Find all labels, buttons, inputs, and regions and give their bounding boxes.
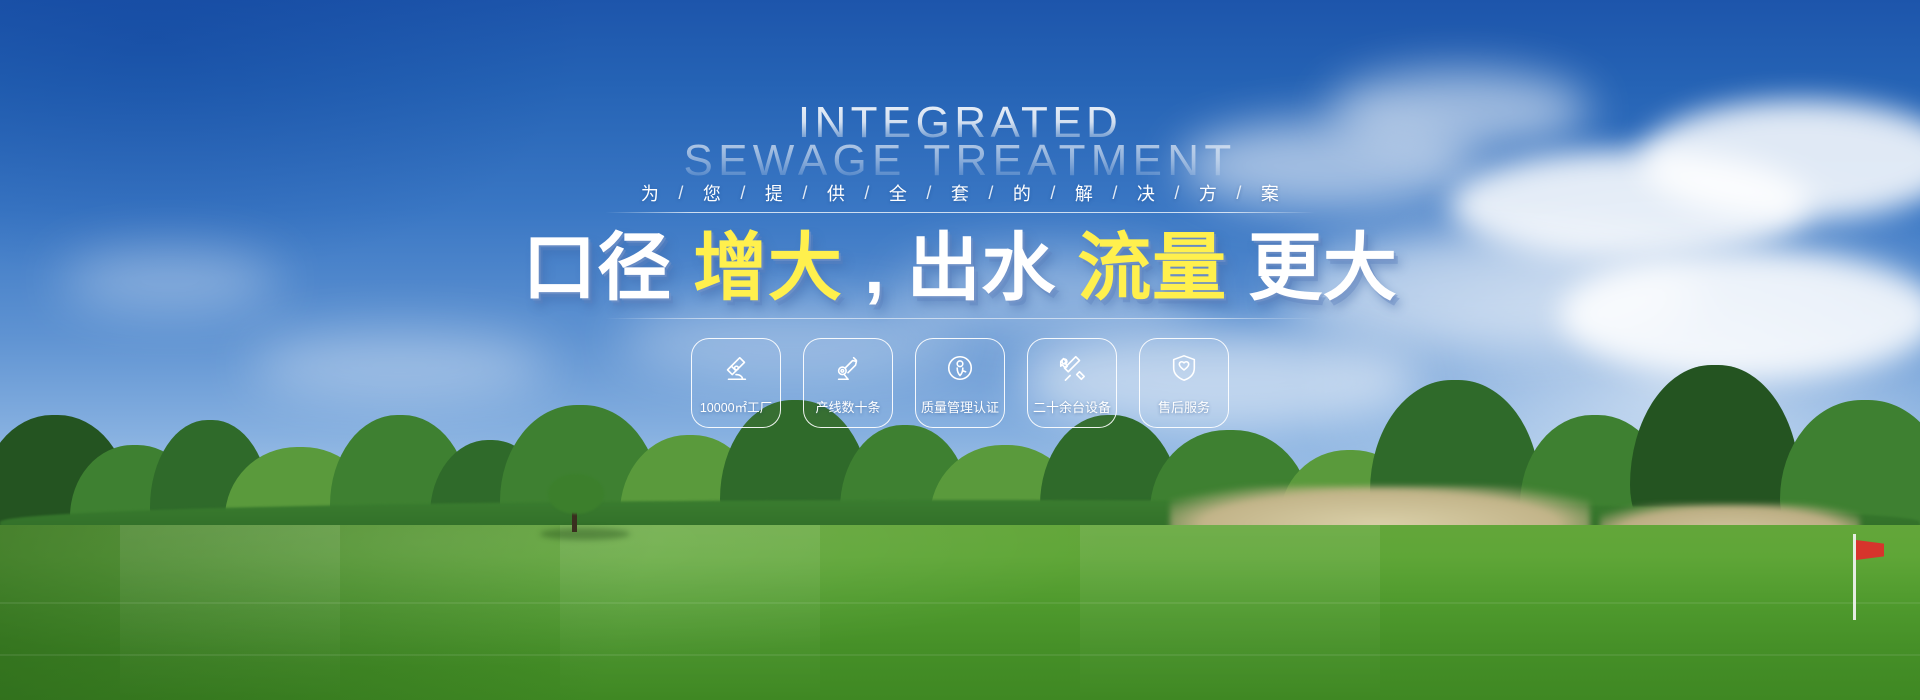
feature-badge-label: 产线数十条 <box>815 397 880 416</box>
tagline-separator: / <box>852 183 882 204</box>
feature-badge-label: 10000㎡工厂 <box>700 397 772 416</box>
headline-part: , <box>864 226 885 309</box>
tagline-char: 提 <box>758 180 790 206</box>
feature-badge-label: 质量管理认证 <box>921 397 999 416</box>
hero-banner: INTEGRATED SEWAGE TREATMENT 为 / 您 / 提 / … <box>0 0 1920 700</box>
tagline-char: 套 <box>944 180 976 206</box>
tagline-separator: / <box>1038 183 1068 204</box>
headline-part: 口径 <box>522 226 671 309</box>
headline-divider <box>605 318 1315 319</box>
feature-badge-equipment[interactable]: 二十余台设备 <box>1027 338 1117 428</box>
tagline-separator: / <box>1100 183 1130 204</box>
feature-badge-list: 10000㎡工厂 产线数十条 <box>691 338 1229 428</box>
tagline-divider <box>605 212 1315 213</box>
feature-badge-label: 售后服务 <box>1158 397 1210 416</box>
quality-certificate-icon <box>945 353 975 383</box>
feature-badge-label: 二十余台设备 <box>1033 397 1111 416</box>
tagline-separator: / <box>1162 183 1192 204</box>
wrench-gear-icon <box>1057 353 1087 383</box>
feature-badge-after-sales[interactable]: 售后服务 <box>1139 338 1229 428</box>
headline-part: 更大 <box>1248 226 1397 309</box>
tagline-char: 全 <box>882 180 914 206</box>
page-title: 口径 增大 , 出水 流量 更大 <box>522 228 1397 308</box>
tagline-char: 案 <box>1254 180 1286 206</box>
tagline-char: 决 <box>1130 180 1162 206</box>
tagline-char: 您 <box>696 180 728 206</box>
tagline-separator: / <box>666 183 696 204</box>
feature-badge-production-lines[interactable]: 产线数十条 <box>803 338 893 428</box>
headline-part: 流量 <box>1077 226 1226 309</box>
headline-part: 出水 <box>907 226 1056 309</box>
banner-content: INTEGRATED SEWAGE TREATMENT 为 / 您 / 提 / … <box>0 0 1920 700</box>
microscope-icon <box>721 353 751 383</box>
production-line-icon <box>833 353 863 383</box>
ghost-headline-line1: INTEGRATED <box>470 98 1450 148</box>
tagline-char: 为 <box>634 180 666 206</box>
feature-badge-quality-cert[interactable]: 质量管理认证 <box>915 338 1005 428</box>
tagline-separator: / <box>790 183 820 204</box>
tagline: 为 / 您 / 提 / 供 / 全 / 套 / 的 / 解 / 决 / 方 / … <box>634 180 1286 206</box>
tagline-char: 供 <box>820 180 852 206</box>
tagline-char: 方 <box>1192 180 1224 206</box>
tagline-separator: / <box>914 183 944 204</box>
feature-badge-factory[interactable]: 10000㎡工厂 <box>691 338 781 428</box>
tagline-separator: / <box>1224 183 1254 204</box>
headline-part: 增大 <box>693 226 842 309</box>
tagline-char: 的 <box>1006 180 1038 206</box>
tagline-separator: / <box>976 183 1006 204</box>
shield-check-icon <box>1169 353 1199 383</box>
tagline-char: 解 <box>1068 180 1100 206</box>
tagline-separator: / <box>728 183 758 204</box>
ghost-headline-line2: SEWAGE TREATMENT <box>470 136 1450 186</box>
